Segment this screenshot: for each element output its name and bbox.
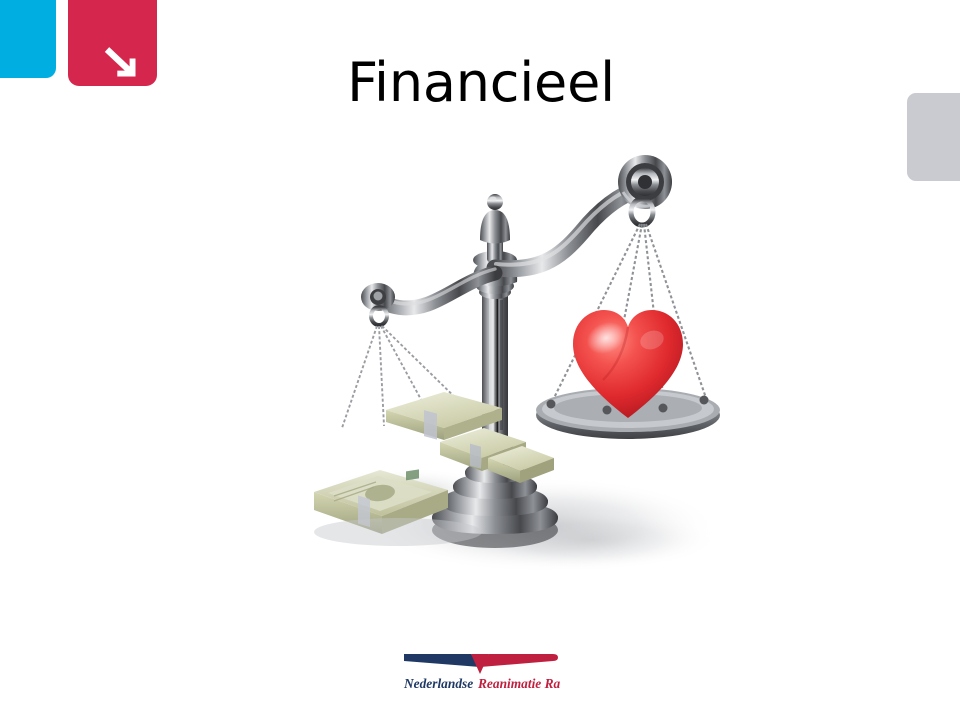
logo-word-primary: Nederlandse — [403, 676, 473, 691]
balance-scale-illustration — [290, 140, 730, 570]
arrow-down-right-icon — [103, 46, 141, 82]
logo-bar-left — [404, 654, 480, 667]
logo-bar-right — [480, 654, 558, 667]
left-arm-scroll — [361, 283, 395, 325]
blue-square-icon — [0, 0, 56, 78]
organisation-logo: Nederlandse Reanimatie Raad — [400, 648, 560, 694]
page-title: Financieel — [150, 56, 812, 110]
right-edge-tab[interactable] — [907, 93, 960, 181]
logo-word-secondary: Reanimatie Raad — [477, 676, 560, 691]
corner-logo-mark — [0, 0, 170, 95]
slide-canvas: Financieel — [0, 0, 960, 720]
right-arm-scroll — [618, 155, 672, 225]
